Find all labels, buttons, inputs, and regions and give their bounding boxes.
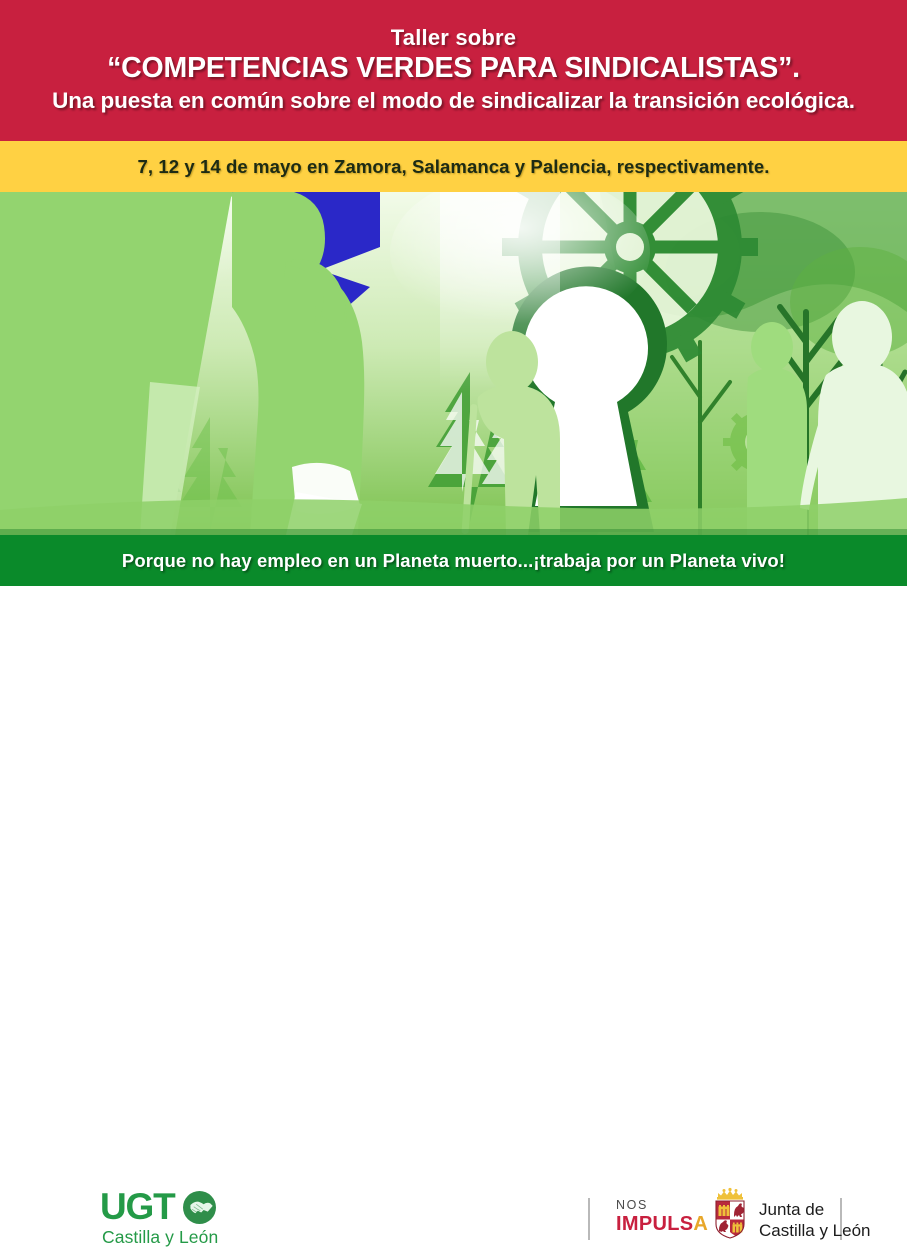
handshake-circle-icon bbox=[183, 1191, 216, 1224]
poster-root: Taller sobre “COMPETENCIAS VERDES PARA S… bbox=[0, 0, 907, 680]
artwork-svg bbox=[0, 192, 907, 535]
nos-impulsa-main-label: IMPULSA bbox=[616, 1214, 708, 1235]
nos-impulsa-top-label: NOS bbox=[616, 1199, 648, 1212]
junta-label-line1: Junta de bbox=[759, 1200, 871, 1221]
junta-label-line2: Castilla y León bbox=[759, 1221, 871, 1242]
nos-impulsa-main-first: IMPULS bbox=[616, 1213, 693, 1235]
header-band: Taller sobre “COMPETENCIAS VERDES PARA S… bbox=[0, 0, 907, 141]
ugt-logo: UGT Castilla y León bbox=[100, 1190, 218, 1248]
nos-impulsa-logo: NOS IMPULSA bbox=[616, 1199, 708, 1235]
slogan-text: Porque no hay empleo en un Planeta muert… bbox=[122, 550, 785, 572]
header-subtitle: Una puesta en común sobre el modo de sin… bbox=[52, 87, 855, 115]
slogan-band: Porque no hay empleo en un Planeta muert… bbox=[0, 535, 907, 586]
nos-impulsa-main-last: A bbox=[693, 1213, 708, 1235]
junta-label: Junta de Castilla y León bbox=[759, 1200, 871, 1241]
header-line-1: Taller sobre bbox=[391, 26, 516, 51]
footer: UGT Castilla y León NOS IMPULSA bbox=[0, 586, 907, 680]
date-text: 7, 12 y 14 de mayo en Zamora, Salamanca … bbox=[137, 156, 769, 178]
artwork-illustration bbox=[0, 192, 907, 535]
castilla-leon-coat-of-arms-icon bbox=[708, 1186, 752, 1240]
ugt-logo-top: UGT bbox=[100, 1190, 216, 1224]
ugt-wordmark: UGT bbox=[100, 1190, 175, 1224]
junta-logo: Junta de Castilla y León bbox=[708, 1186, 871, 1241]
date-band: 7, 12 y 14 de mayo en Zamora, Salamanca … bbox=[0, 141, 907, 192]
header-title: “COMPETENCIAS VERDES PARA SINDICALISTAS”… bbox=[107, 51, 800, 85]
ugt-region-label: Castilla y León bbox=[102, 1227, 218, 1248]
footer-divider-left bbox=[588, 1198, 590, 1240]
